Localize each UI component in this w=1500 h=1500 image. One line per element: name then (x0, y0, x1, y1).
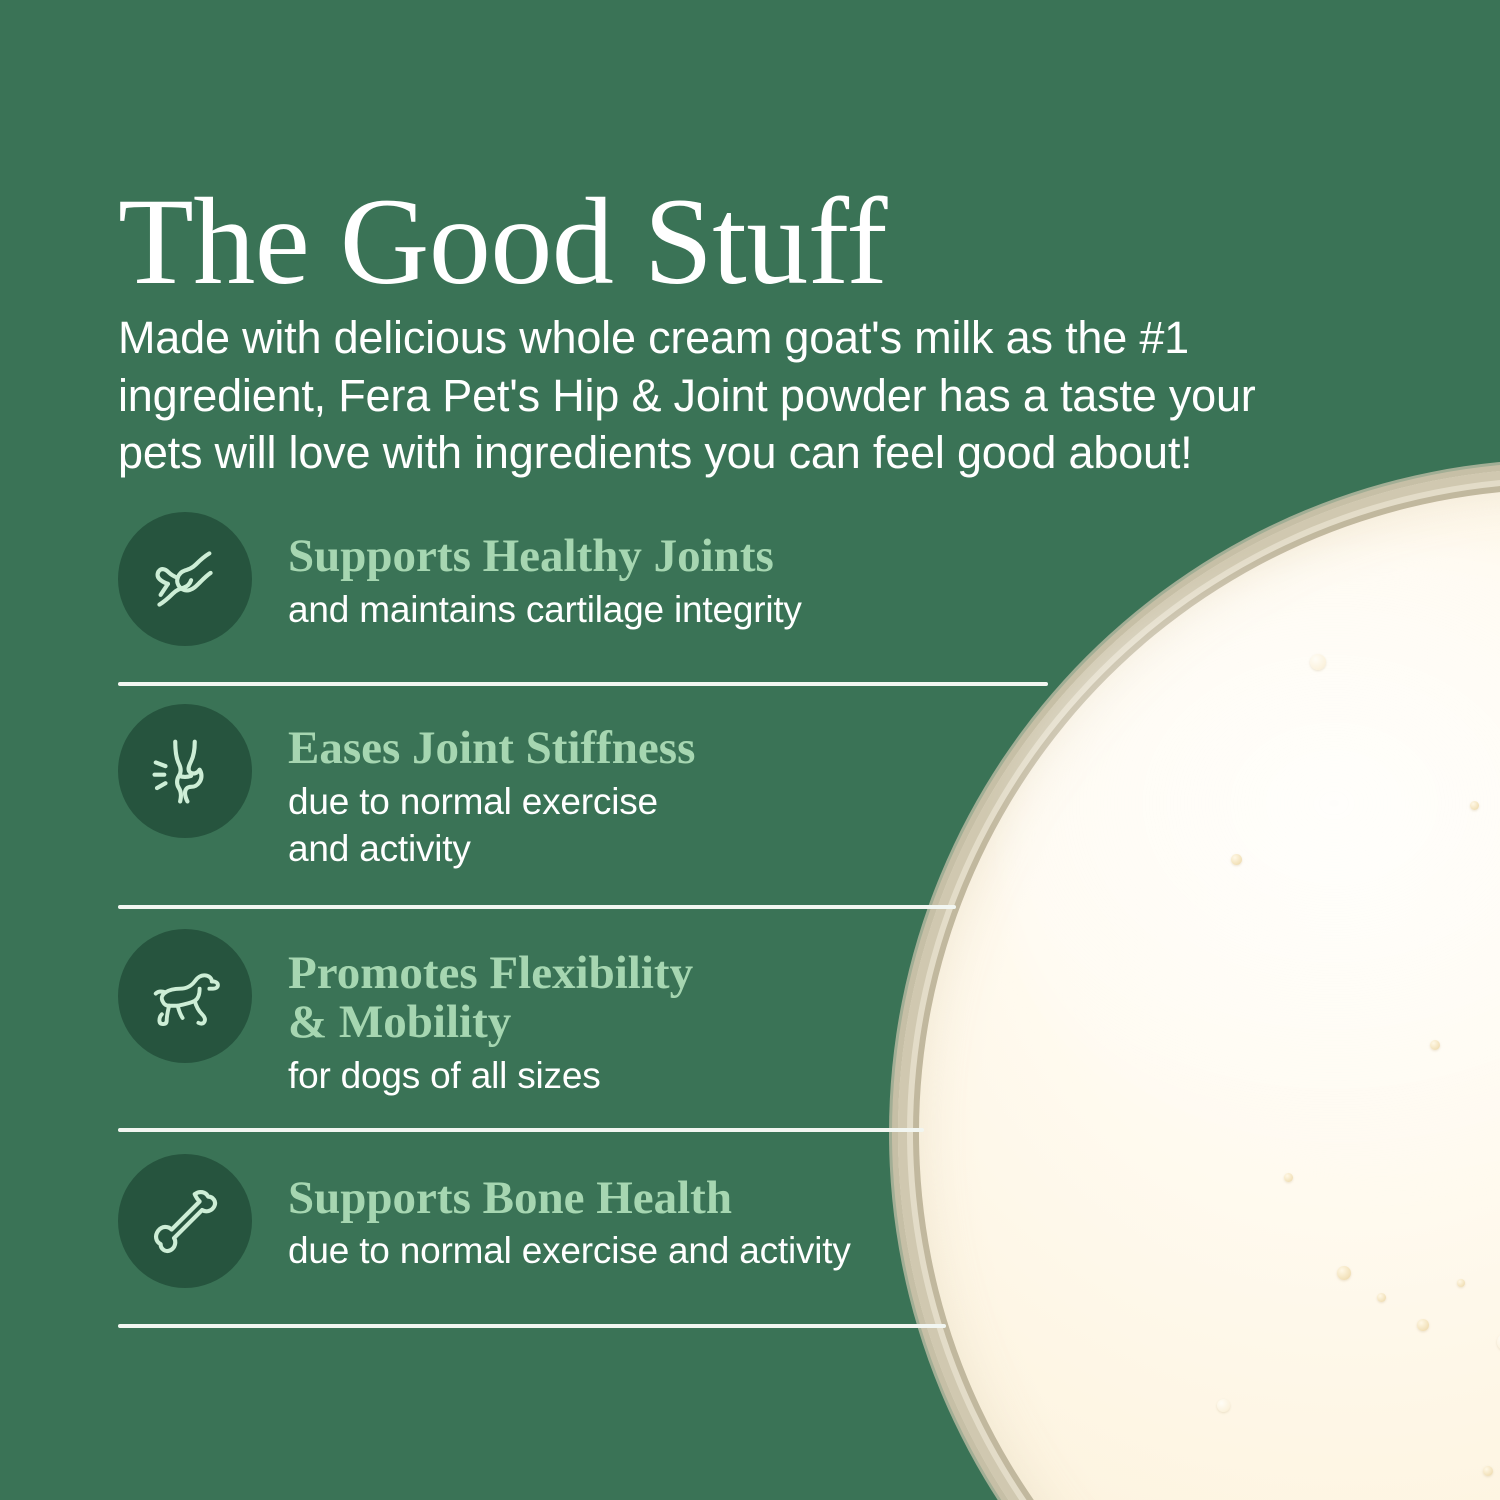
benefit-subtitle: for dogs of all sizes (288, 1052, 1078, 1099)
benefit-subtitle: due to normal exercise and activity (288, 778, 1078, 873)
benefit-item-promotes-flexibility-mobility: Promotes Flexibility & Mobility for dogs… (118, 929, 1078, 1100)
milk-bubble (1231, 854, 1242, 865)
benefit-divider (118, 682, 1048, 686)
benefit-item-supports-bone-health: Supports Bone Health due to normal exerc… (118, 1154, 1078, 1288)
milk-bubble (1470, 801, 1479, 810)
milk-bubble (1337, 1266, 1351, 1280)
benefit-text-block: Supports Bone Health due to normal exerc… (288, 1154, 1078, 1275)
page-description: Made with delicious whole cream goat's m… (118, 309, 1348, 482)
benefit-text-block: Supports Healthy Joints and maintains ca… (288, 512, 1078, 633)
benefit-subtitle: due to normal exercise and activity (288, 1227, 1078, 1274)
running-dog-icon (118, 929, 252, 1063)
milk-bubble (1284, 1173, 1293, 1182)
joint-bones-icon (118, 512, 252, 646)
benefit-item-eases-joint-stiffness: Eases Joint Stiffness due to normal exer… (118, 704, 1078, 873)
infographic-canvas: The Good Stuff Made with delicious whole… (0, 0, 1500, 1500)
milk-bubble (1377, 1293, 1386, 1302)
benefit-divider (118, 1128, 924, 1132)
milk-bubble (1457, 1279, 1465, 1287)
benefit-divider (118, 1324, 946, 1328)
benefit-title: Supports Bone Health (288, 1174, 1078, 1224)
benefits-list: Supports Healthy Joints and maintains ca… (118, 512, 1078, 1328)
milk-bubble (1417, 1319, 1429, 1331)
milk-bubble (1430, 1040, 1440, 1050)
benefit-divider (118, 905, 956, 909)
page-title: The Good Stuff (118, 179, 1188, 305)
benefit-title: Supports Healthy Joints (288, 532, 1078, 582)
benefit-text-block: Eases Joint Stiffness due to normal exer… (288, 704, 1078, 873)
milk-bubble (1483, 1466, 1493, 1476)
benefit-subtitle: and maintains cartilage integrity (288, 586, 1078, 633)
benefit-item-supports-healthy-joints: Supports Healthy Joints and maintains ca… (118, 512, 1078, 646)
benefit-title: Promotes Flexibility & Mobility (288, 949, 1078, 1049)
benefit-title: Eases Joint Stiffness (288, 724, 1078, 774)
benefit-text-block: Promotes Flexibility & Mobility for dogs… (288, 929, 1078, 1100)
dog-bone-icon (118, 1154, 252, 1288)
knee-joint-pain-icon (118, 704, 252, 838)
